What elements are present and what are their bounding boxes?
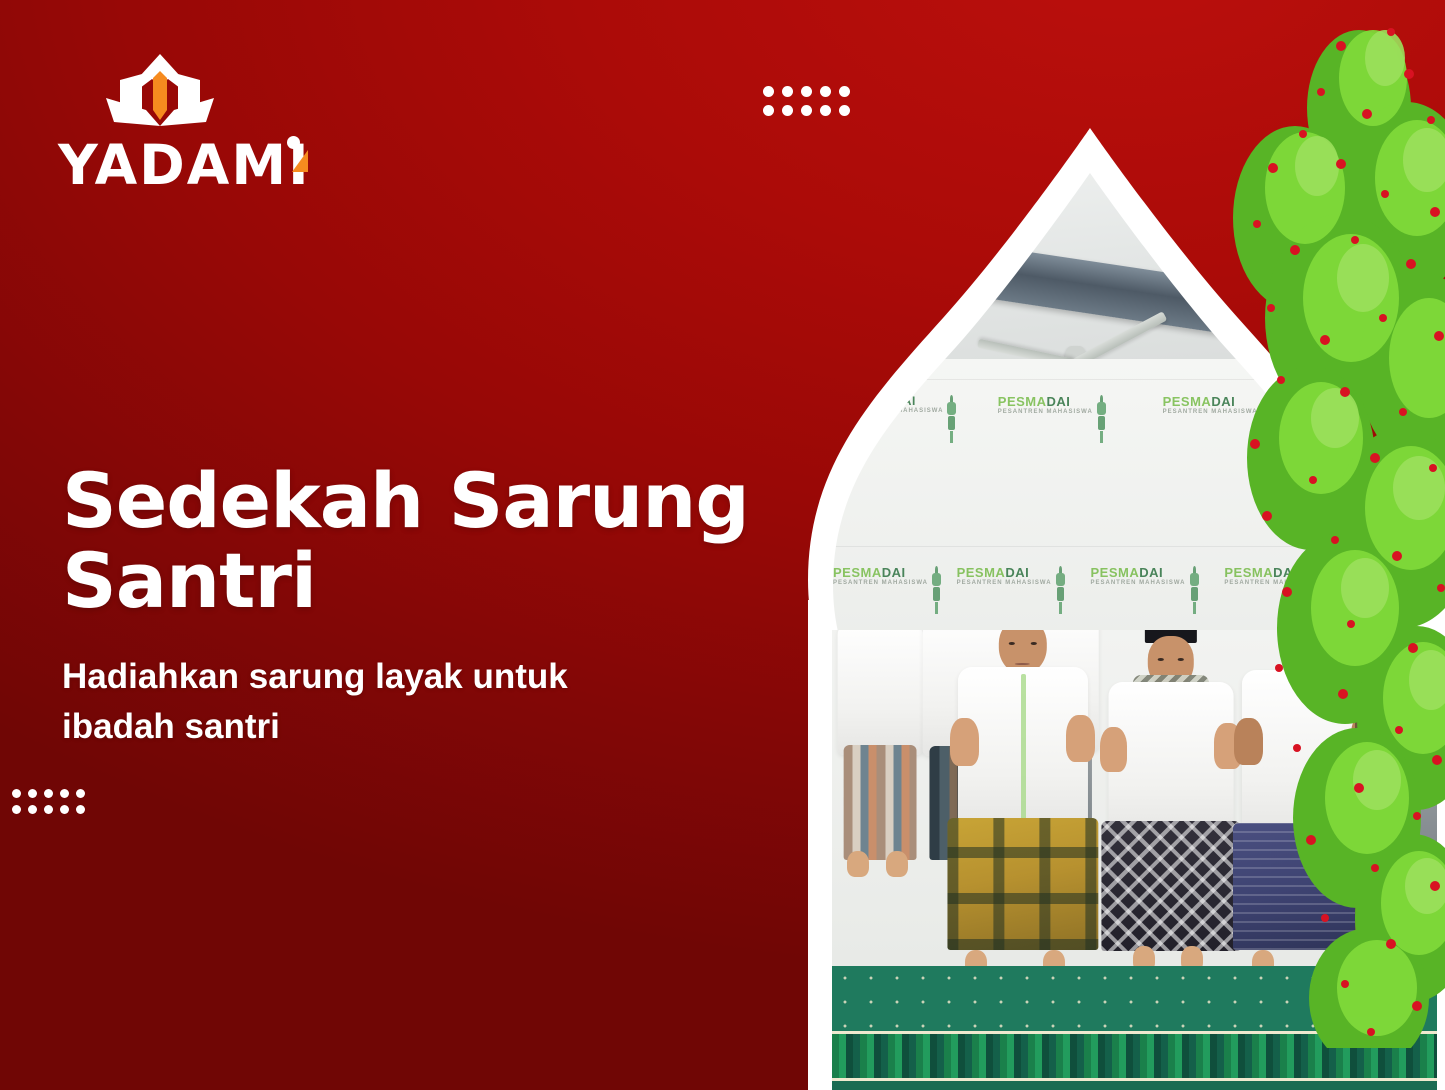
- person-back-1-lower: [838, 630, 923, 860]
- brand-wordmark: YADAMI: [58, 138, 318, 193]
- pesmadai-logo: PESMADAI PESANTREN MAHASISWA: [998, 395, 1106, 418]
- pesmadai-logo: PESMADAI PESANTREN MAHASISWA: [1224, 566, 1332, 589]
- wordmark-dot-icon: [287, 136, 300, 149]
- brand-wordmark-text: YADAMI: [58, 133, 311, 197]
- dot-grid-left-decoration: [12, 789, 92, 821]
- page-title: Sedekah Sarung Santri: [62, 461, 782, 622]
- person-front-2: [1098, 630, 1243, 961]
- person-front-3: [1231, 630, 1382, 961]
- person-front-1: [947, 630, 1098, 961]
- photo-wide-crop: [832, 630, 1437, 1090]
- pesmadai-logo: PESMADAI PESANTREN MAHASISWA: [1091, 566, 1199, 589]
- carpet-ornament-border: [832, 1031, 1437, 1081]
- poster-canvas: YADAMI Sedekah Sarung Santri Hadiahkan s…: [0, 0, 1445, 1090]
- page-subtitle: Hadiahkan sarung layak untuk ibadah sant…: [62, 652, 682, 751]
- pesmadai-logo: PESMADAI PESANTREN MAHASISWA: [957, 566, 1065, 589]
- photo-composition: PESMADAI PESANTREN MAHASISWA PESMADAI PE…: [790, 0, 1445, 1090]
- pesmadai-logo: PESMADAI PESANTREN MAHASISWA: [833, 566, 941, 589]
- pesmadai-logo: PESMADAI PESANTREN MAHASISWA: [1163, 395, 1271, 418]
- prayer-carpet: [832, 966, 1437, 1090]
- brand-logo[interactable]: YADAMI: [58, 52, 318, 182]
- book-lotus-icon: [100, 52, 220, 132]
